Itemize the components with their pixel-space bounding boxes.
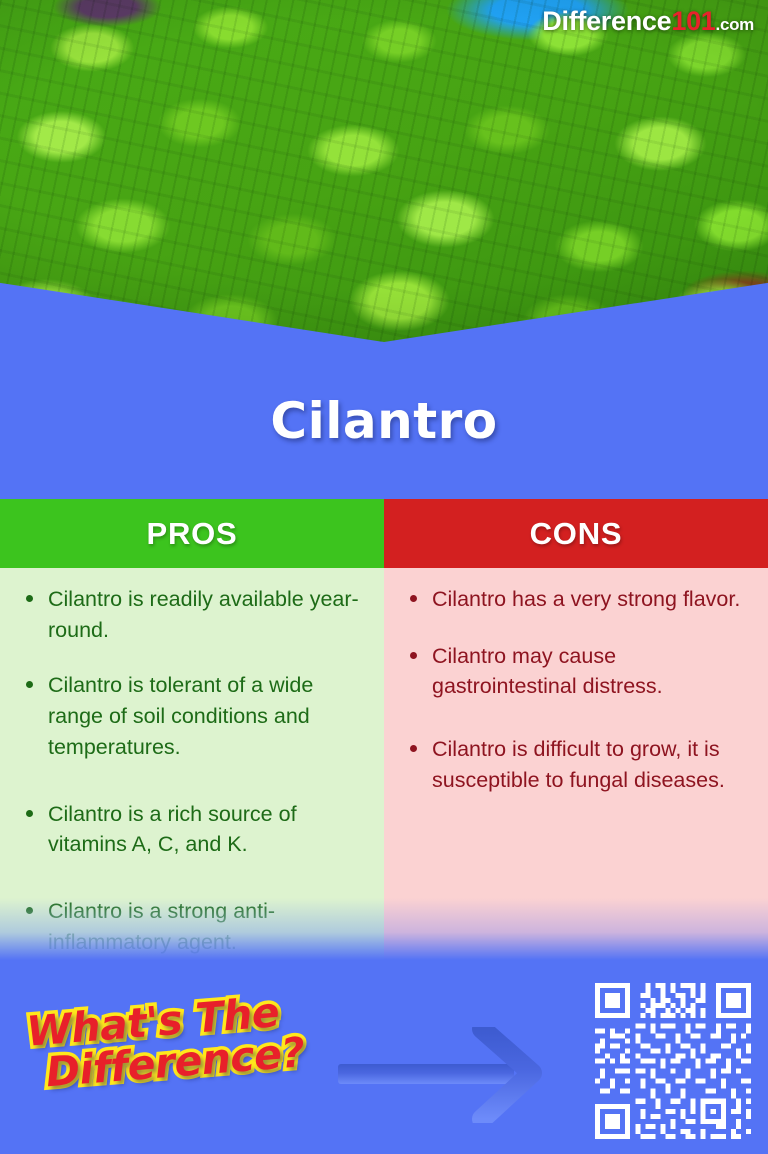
cons-fade-overlay <box>384 898 768 960</box>
cons-panel: Cilantro has a very strong flavor. Cilan… <box>384 568 768 960</box>
list-item: Cilantro is a rich source of vitamins A,… <box>22 799 366 860</box>
logo-domain: .com <box>716 15 754 34</box>
list-item: Cilantro is difficult to grow, it is sus… <box>406 734 750 795</box>
list-item: Cilantro is readily available year-round… <box>22 584 366 645</box>
cons-list: Cilantro has a very strong flavor. Cilan… <box>406 584 750 796</box>
pros-cons-body: Cilantro is readily available year-round… <box>0 568 768 960</box>
pros-cons-header-row: PROS CONS <box>0 499 768 568</box>
page-title: Cilantro <box>270 392 497 450</box>
hero-image <box>0 0 768 342</box>
qr-code-icon[interactable] <box>590 978 756 1144</box>
title-band: Cilantro <box>0 342 768 499</box>
infographic-poster: Difference101.com Cilantro PROS CONS Cil… <box>0 0 768 1154</box>
photo-vignette <box>0 0 768 342</box>
arrow-right-icon <box>336 1027 566 1123</box>
brand-logo[interactable]: Difference101.com <box>542 6 754 37</box>
list-item: Cilantro is a strong anti-inflammatory a… <box>22 896 366 957</box>
cons-header: CONS <box>384 499 768 568</box>
list-item: Cilantro has a very strong flavor. <box>406 584 750 615</box>
pros-panel: Cilantro is readily available year-round… <box>0 568 384 960</box>
pros-header: PROS <box>0 499 384 568</box>
logo-name: Difference <box>542 6 671 36</box>
pros-list: Cilantro is readily available year-round… <box>22 584 366 958</box>
list-item: Cilantro is tolerant of a wide range of … <box>22 670 366 762</box>
list-item: Cilantro may cause gastrointestinal dist… <box>406 641 750 702</box>
logo-number: 101 <box>671 6 715 36</box>
